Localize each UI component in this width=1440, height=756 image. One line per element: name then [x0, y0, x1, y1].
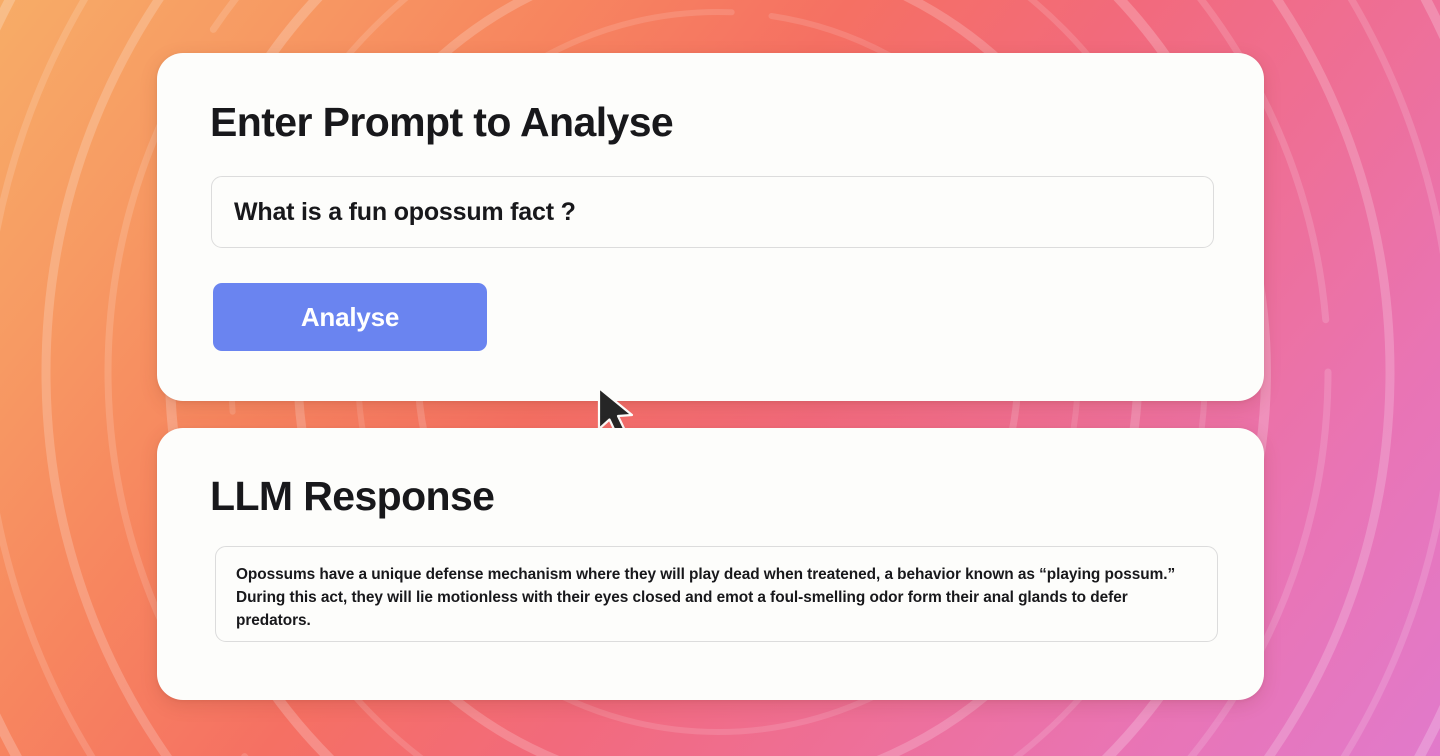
page-title: Enter Prompt to Analyse: [210, 98, 673, 146]
prompt-input[interactable]: What is a fun opossum fact ?: [211, 176, 1214, 248]
response-title: LLM Response: [210, 472, 494, 520]
prompt-card: Enter Prompt to Analyse What is a fun op…: [157, 53, 1264, 401]
response-text: Opossums have a unique defense mechanism…: [236, 563, 1197, 632]
response-card: LLM Response Opossums have a unique defe…: [157, 428, 1264, 700]
app-root: Enter Prompt to Analyse What is a fun op…: [0, 0, 1440, 756]
prompt-input-value[interactable]: What is a fun opossum fact ?: [234, 198, 576, 227]
response-output-box: Opossums have a unique defense mechanism…: [215, 546, 1218, 642]
analyse-button[interactable]: Analyse: [213, 283, 487, 351]
